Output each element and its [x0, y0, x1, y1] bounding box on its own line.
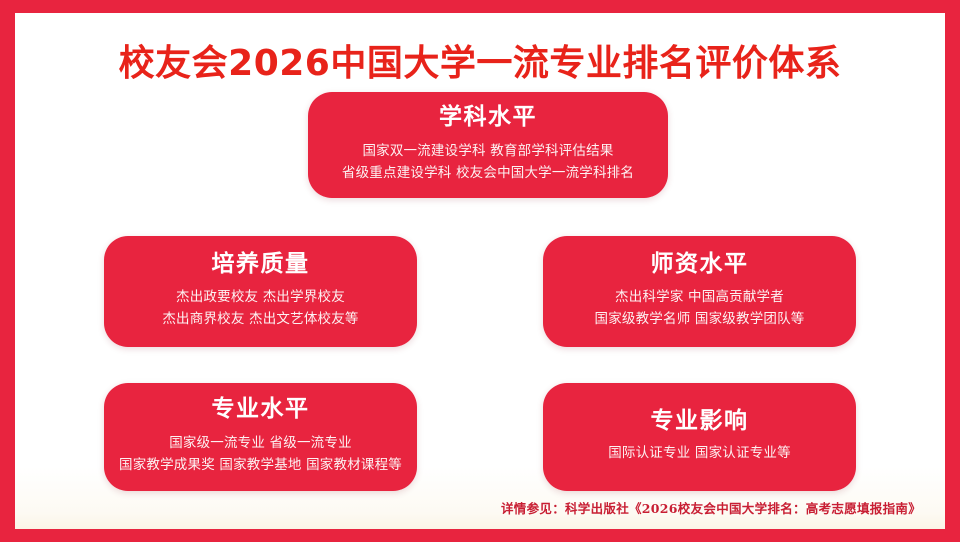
card-influence-details: 国际认证专业 国家认证专业等	[608, 443, 791, 465]
card-quality: 培养质量 杰出政要校友 杰出学界校友 杰出商界校友 杰出文艺体校友等	[104, 236, 417, 347]
card-faculty-line-1: 杰出科学家 中国高贡献学者	[595, 287, 805, 309]
card-discipline-line-2: 省级重点建设学科 校友会中国大学一流学科排名	[342, 163, 634, 185]
frame-border-top	[0, 0, 960, 13]
card-discipline-title: 学科水平	[439, 105, 537, 130]
card-influence-line-1: 国际认证专业 国家认证专业等	[608, 443, 791, 465]
page-title: 校友会2026中国大学一流专业排名评价体系	[0, 34, 960, 86]
card-influence: 专业影响 国际认证专业 国家认证专业等	[543, 383, 856, 491]
card-major-details: 国家级一流专业 省级一流专业 国家教学成果奖 国家教学基地 国家教材课程等	[119, 433, 402, 477]
card-quality-line-1: 杰出政要校友 杰出学界校友	[162, 287, 358, 309]
card-influence-title: 专业影响	[651, 409, 749, 434]
card-discipline: 学科水平 国家双一流建设学科 教育部学科评估结果 省级重点建设学科 校友会中国大…	[308, 92, 668, 198]
slide-canvas: 校友会2026中国大学一流专业排名评价体系 学科水平 国家双一流建设学科 教育部…	[0, 0, 960, 542]
card-major: 专业水平 国家级一流专业 省级一流专业 国家教学成果奖 国家教学基地 国家教材课…	[104, 383, 417, 491]
card-discipline-line-1: 国家双一流建设学科 教育部学科评估结果	[342, 141, 634, 163]
card-major-line-1: 国家级一流专业 省级一流专业	[119, 433, 402, 455]
card-discipline-details: 国家双一流建设学科 教育部学科评估结果 省级重点建设学科 校友会中国大学一流学科…	[342, 141, 634, 185]
card-major-line-2: 国家教学成果奖 国家教学基地 国家教材课程等	[119, 455, 402, 477]
card-quality-details: 杰出政要校友 杰出学界校友 杰出商界校友 杰出文艺体校友等	[162, 287, 358, 331]
card-quality-title: 培养质量	[212, 252, 310, 277]
card-faculty-line-2: 国家级教学名师 国家级教学团队等	[595, 309, 805, 331]
card-faculty-details: 杰出科学家 中国高贡献学者 国家级教学名师 国家级教学团队等	[595, 287, 805, 331]
footer-source-note: 详情参见：科学出版社《2026校友会中国大学排名：高考志愿填报指南》	[501, 498, 921, 517]
frame-border-bottom	[0, 529, 960, 542]
card-major-title: 专业水平	[212, 397, 310, 422]
card-faculty-title: 师资水平	[651, 252, 749, 277]
card-faculty: 师资水平 杰出科学家 中国高贡献学者 国家级教学名师 国家级教学团队等	[543, 236, 856, 347]
card-quality-line-2: 杰出商界校友 杰出文艺体校友等	[162, 309, 358, 331]
